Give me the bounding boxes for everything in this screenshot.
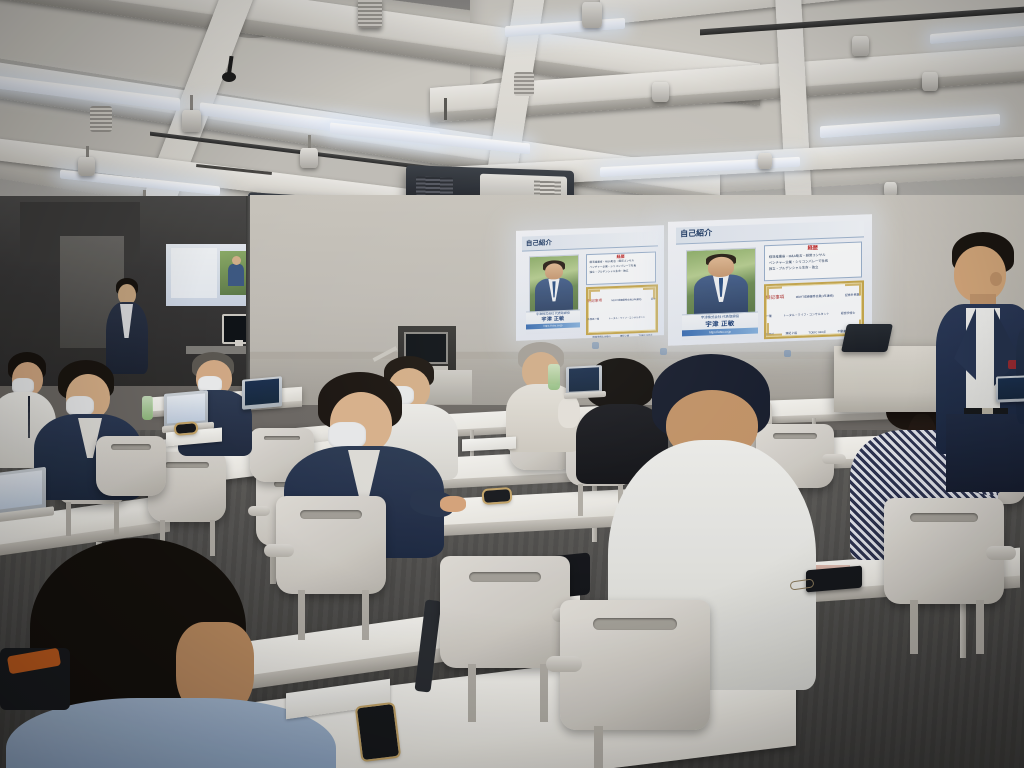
spotlight-icon	[652, 82, 669, 102]
right-notes-line: MDRT成績優秀会員(3年連続)	[789, 293, 834, 299]
chair	[560, 600, 710, 730]
spotlight-icon	[758, 153, 772, 169]
right-projection-screen: 自己紹介 宇津株式会社 代表取締役 宇津 正敏 https://utsu.co.…	[668, 214, 872, 346]
spotlight-icon	[78, 157, 95, 176]
left-slide-header-text: 自己紹介	[526, 236, 552, 247]
right-slide-nameplate: 宇津株式会社 代表取締役 宇津 正敏 https://utsu.co.jp	[682, 311, 757, 340]
chair	[276, 496, 386, 594]
right-slide-header-text: 自己紹介	[680, 227, 712, 239]
lectern-laptop	[841, 324, 893, 352]
right-slide: 自己紹介 宇津株式会社 代表取締役 宇津 正敏 https://utsu.co.…	[668, 214, 872, 346]
left-notes-line: トータル・ライフ・コンサルタント	[604, 317, 646, 321]
left-slide-website: https://utsu.co.jp	[526, 323, 579, 330]
left-slide-nameplate: 宇津株式会社 代表取締役 宇津 正敏 https://utsu.co.jp	[526, 310, 579, 335]
left-slide-header-bar: 自己紹介	[522, 231, 658, 252]
spotlight-icon	[182, 110, 201, 132]
seminar-room-photo: 自己紹介 宇津株式会社 代表取締役 宇津 正敏 https://utsu.co.…	[0, 0, 1024, 768]
spotlight-icon	[922, 72, 938, 91]
left-notes-line: MDRT成績優秀会員(3年連続)	[606, 299, 641, 302]
spotlight-icon	[300, 148, 318, 168]
water-bottle	[142, 396, 153, 420]
spotlight-icon	[852, 36, 869, 56]
chair	[440, 556, 570, 668]
chair	[96, 436, 166, 496]
right-slide-career-box: 経歴 経済産業省・M&A助言・経営コンサル ベンチャー企業・シリコンバレーで社長…	[764, 242, 862, 281]
smartphone	[484, 489, 511, 503]
left-projection-screen: 自己紹介 宇津株式会社 代表取締役 宇津 正敏 https://utsu.co.…	[516, 225, 664, 341]
left-slide-career-box: 経歴 経済産業省・M&A助言・経営コンサル ベンチャー企業・シリコンバレーで社長…	[586, 252, 656, 285]
right-slide-header-bar: 自己紹介	[676, 221, 864, 245]
right-notes-line: トータル・ライフ・コンサルタント	[776, 311, 829, 317]
smartphone	[357, 704, 399, 760]
presenter	[932, 232, 1024, 492]
spotlight-icon	[582, 2, 602, 28]
left-slide-notes-box: 特記事項 MDRT成績優秀会員(3年連続) 証券外務員一種 トータル・ライフ・コ…	[586, 285, 658, 336]
left-slide-portrait	[529, 255, 578, 314]
laptop	[242, 376, 282, 409]
smartphone	[176, 423, 197, 434]
ceiling-speaker-icon	[90, 106, 112, 132]
ceiling-speaker-icon	[514, 72, 534, 96]
right-notes-line: TOEIC 940点	[802, 330, 826, 335]
water-bottle	[548, 364, 560, 390]
right-slide-portrait	[686, 247, 755, 316]
back-room-screen	[166, 244, 258, 306]
laptop	[996, 375, 1024, 402]
chair	[884, 498, 1004, 604]
ceiling-speaker-icon	[358, 0, 382, 28]
left-slide: 自己紹介 宇津株式会社 代表取締役 宇津 正敏 https://utsu.co.…	[516, 225, 664, 341]
wall-clip-icon	[592, 342, 599, 349]
